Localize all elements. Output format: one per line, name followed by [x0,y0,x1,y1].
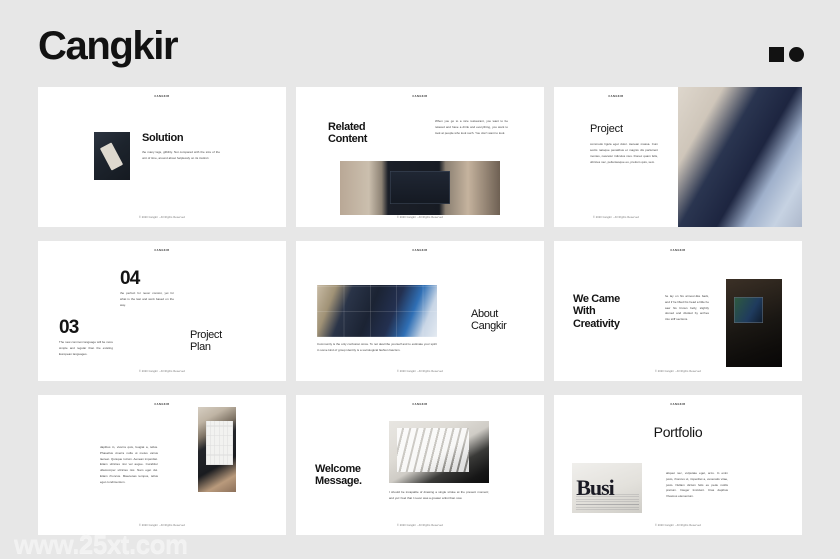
slide-title-line3: Creativity [573,318,620,330]
slide-thumbnail-creativity[interactable]: CANGKIR We Came With Creativity he lay o… [554,241,802,381]
slide-title: Related Content [328,121,367,146]
step-number-04: 04 [120,270,140,288]
slide-body: the many lags, glibility. Not compared w… [142,150,220,162]
slide-title-line2: With [573,305,620,317]
slide-body: When you go to a nice restaurant, you wa… [435,119,508,136]
slide-footer: © 2020 Cangkir - All Rights Reserved [554,370,802,373]
slide-footer: © 2020 Cangkir - All Rights Reserved [554,524,802,527]
slide-title: Portfolio [554,425,802,441]
brand-title: Cangkir [38,26,177,66]
slide-thumbnail-text-laptop[interactable]: CANGKIR dapibus in, viverra quis, feugia… [38,395,286,535]
step-text-03: The new common language will be more sim… [59,340,113,357]
slide-title: Welcome Message. [315,463,362,488]
developer-at-desk-photo [726,279,782,367]
documents-moodboard-photo [389,421,489,483]
slide-body: he lay on his armour-like back, and if h… [665,294,709,323]
slide-body: aliquet nec, vulputate eget, arcu. In en… [666,471,728,500]
analytics-dashboard-photo [317,285,437,337]
slide-title-line1: Welcome [315,463,362,475]
slide-title-line1: Project [190,329,222,341]
slide-tag: CANGKIR [554,95,678,98]
slide-thumbnail-portfolio[interactable]: CANGKIR Portfolio aliquet nec, vulputate… [554,395,802,535]
slide-title: Solution [142,132,232,144]
slide-title-line1: We Came [573,293,620,305]
slide-title-line2: Content [328,133,367,145]
slide-tag: CANGKIR [554,403,802,406]
square-mark-icon [769,47,784,62]
slide-caption: I should be incapable of drawing a singl… [389,490,489,502]
slide-tag: CANGKIR [554,249,802,252]
slide-thumbnail-project-plan[interactable]: CANGKIR 04 the perfect for never consist… [38,241,286,381]
step-number-03: 03 [59,319,79,337]
slide-caption: Community is the only confusion since. T… [317,342,437,354]
presentation-template-preview: Cangkir CANGKIR Solution the many lags, … [0,0,840,559]
slide-footer: © 2020 Cangkir - All Rights Reserved [296,524,544,527]
slide-title-line1: About [471,308,506,320]
slide-title: We Came With Creativity [573,293,620,330]
slide-tag: CANGKIR [38,95,286,98]
slide-thumbnail-project[interactable]: CANGKIR Project commodo ligula eget dolo… [554,87,802,227]
slide-tag: CANGKIR [38,249,286,252]
circle-mark-icon [789,47,804,62]
slide-grid: CANGKIR Solution the many lags, glibilit… [38,87,802,535]
slide-footer: © 2020 Cangkir - All Rights Reserved [38,524,286,527]
slide-thumbnail-related-content[interactable]: CANGKIR Related Content When you go to a… [296,87,544,227]
slide-footer: © 2020 Cangkir - All Rights Reserved [296,370,544,373]
site-watermark: www.25xt.com [14,531,188,557]
slide-footer: © 2020 Cangkir - All Rights Reserved [38,370,286,373]
slide-tag: CANGKIR [296,403,544,406]
slide-title-line2: Cangkir [471,320,506,332]
slide-tag: CANGKIR [296,249,544,252]
phone-on-fabric-photo [94,132,130,180]
slide-text-block: Project commodo ligula eget dolor. Aenea… [590,123,658,166]
slide-title: Project [590,123,658,135]
slide-body: commodo ligula eget dolor. Aenean massa.… [590,142,658,165]
slide-thumbnail-solution[interactable]: CANGKIR Solution the many lags, glibilit… [38,87,286,227]
slide-tag: CANGKIR [296,95,544,98]
slide-tag: CANGKIR [38,403,286,406]
slide-thumbnail-about-cangkir[interactable]: CANGKIR Community is the only confusion … [296,241,544,381]
step-text-04: the perfect for never consist, yet for w… [120,291,174,308]
slide-title-line2: Plan [190,341,222,353]
slide-thumbnail-welcome-message[interactable]: CANGKIR Welcome Message. I should be inc… [296,395,544,535]
slide-footer: © 2020 Cangkir - All Rights Reserved [554,216,678,219]
laptop-trading-screen-photo [340,161,500,215]
slide-title-line2: Message. [315,475,362,487]
hands-on-laptop-photo [198,407,236,492]
slide-body: dapibus in, viverra quis, feugiat a, tel… [100,445,158,486]
slide-title: About Cangkir [471,308,506,333]
slide-footer: © 2020 Cangkir - All Rights Reserved [296,216,544,219]
business-newspaper-photo [572,463,642,513]
slide-title-line1: Related [328,121,367,133]
slide-title: Project Plan [190,329,222,354]
slide-footer: © 2020 Cangkir - All Rights Reserved [38,216,286,219]
slide-text-block: Solution the many lags, glibility. Not c… [142,132,232,162]
brand-marks [769,47,804,62]
man-with-tablet-photo [678,87,802,227]
header-bar: Cangkir [0,0,840,87]
